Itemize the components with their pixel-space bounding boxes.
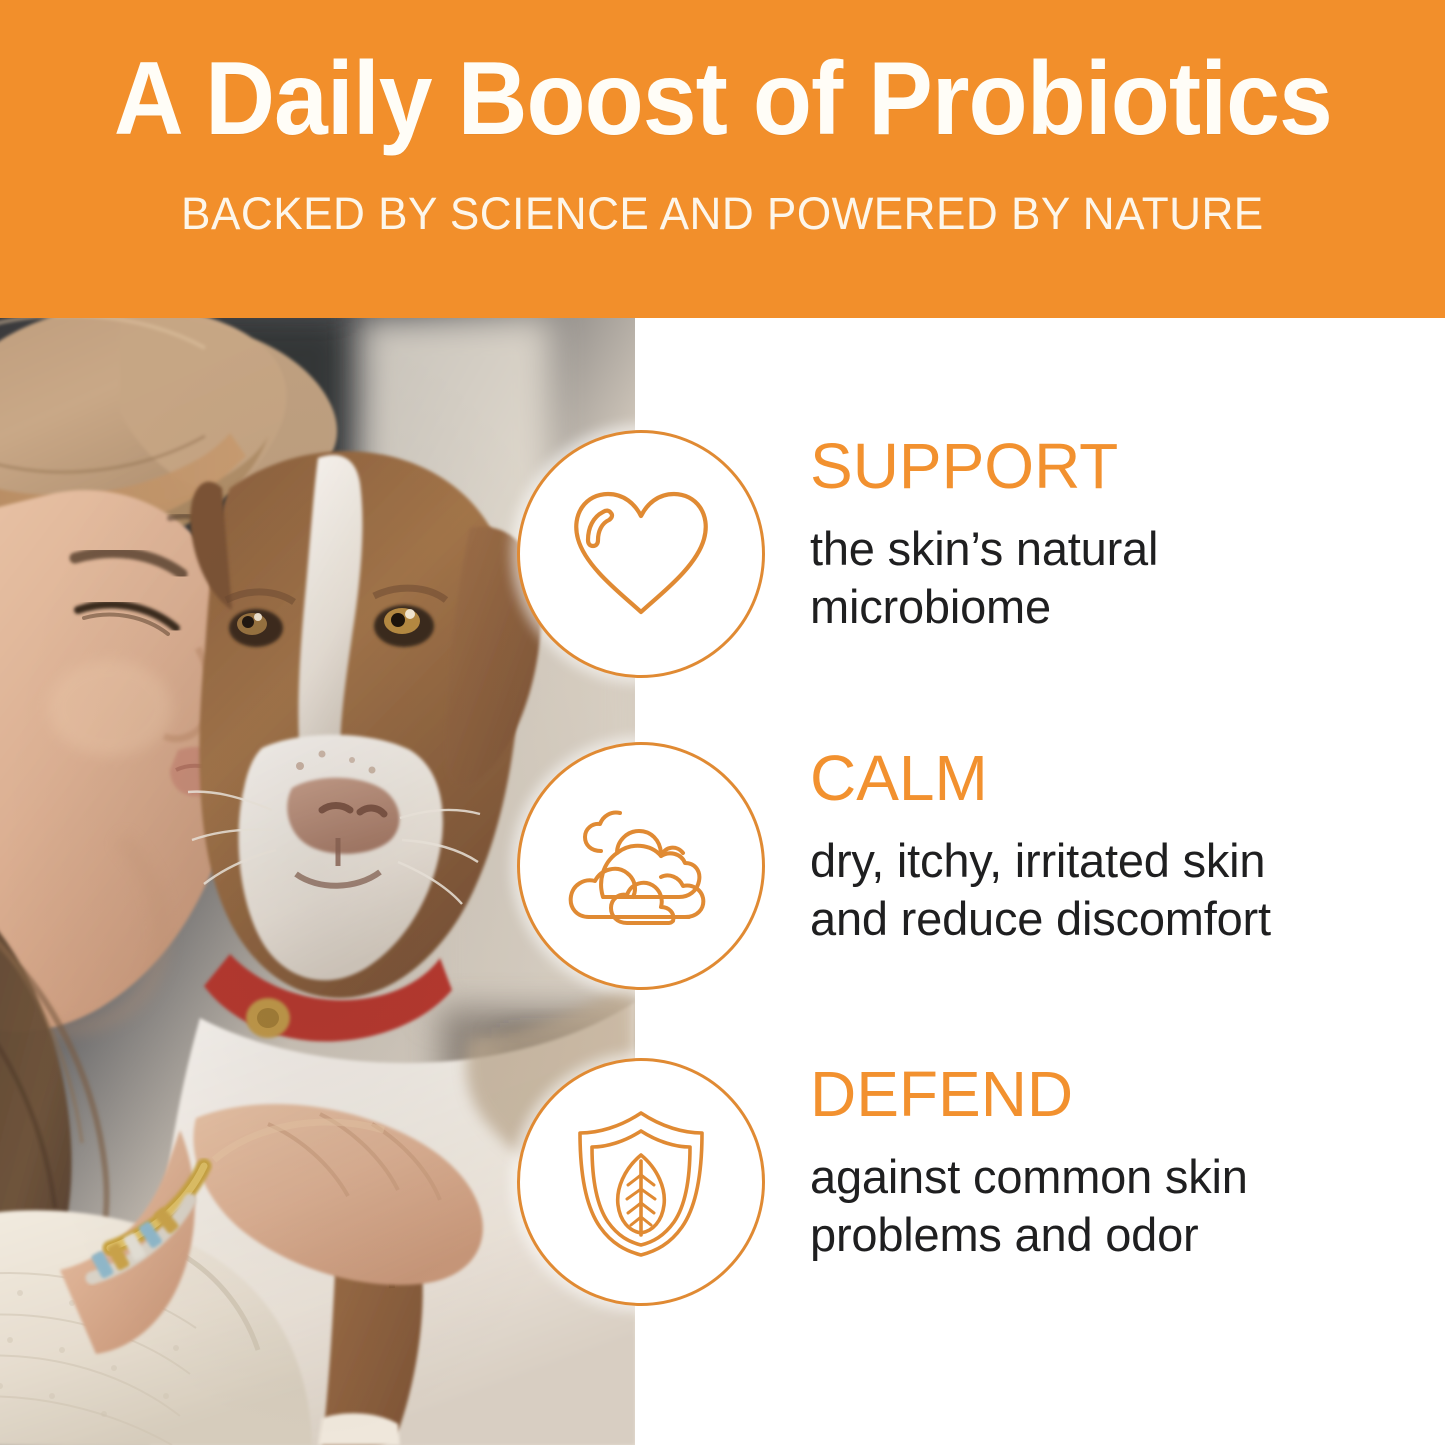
- feature-desc-line: and reduce discomfort: [810, 890, 1440, 948]
- feature-desc-line: against common skin: [810, 1148, 1440, 1206]
- clouds-icon-badge: [517, 742, 765, 990]
- feature-desc-line: problems and odor: [810, 1206, 1440, 1264]
- feature-text-defend: DEFEND against common skin problems and …: [810, 1062, 1440, 1264]
- shield-leaf-icon: [570, 1107, 712, 1257]
- heart-icon: [566, 484, 716, 624]
- shield-leaf-icon-badge: [517, 1058, 765, 1306]
- feature-desc-defend: against common skin problems and odor: [810, 1148, 1440, 1264]
- feature-list: SUPPORT the skin’s natural microbiome: [635, 318, 1445, 1445]
- feature-text-support: SUPPORT the skin’s natural microbiome: [810, 434, 1440, 636]
- probiotics-infographic: A Daily Boost of Probiotics BACKED BY SC…: [0, 0, 1445, 1445]
- feature-row-support: SUPPORT the skin’s natural microbiome: [635, 430, 1445, 730]
- feature-title-calm: CALM: [810, 746, 1440, 810]
- feature-desc-calm: dry, itchy, irritated skin and reduce di…: [810, 832, 1440, 948]
- feature-desc-support: the skin’s natural microbiome: [810, 520, 1440, 636]
- feature-title-defend: DEFEND: [810, 1062, 1440, 1126]
- clouds-icon: [565, 801, 717, 931]
- heart-icon-badge: [517, 430, 765, 678]
- feature-text-calm: CALM dry, itchy, irritated skin and redu…: [810, 746, 1440, 948]
- feature-row-calm: CALM dry, itchy, irritated skin and redu…: [635, 742, 1445, 1042]
- header-banner: A Daily Boost of Probiotics BACKED BY SC…: [0, 0, 1445, 318]
- page-title: A Daily Boost of Probiotics: [113, 46, 1331, 152]
- feature-desc-line: dry, itchy, irritated skin: [810, 832, 1440, 890]
- feature-desc-line: microbiome: [810, 578, 1440, 636]
- feature-row-defend: DEFEND against common skin problems and …: [635, 1058, 1445, 1358]
- feature-title-support: SUPPORT: [810, 434, 1440, 498]
- page-subtitle: BACKED BY SCIENCE AND POWERED BY NATURE: [181, 188, 1264, 240]
- feature-desc-line: the skin’s natural: [810, 520, 1440, 578]
